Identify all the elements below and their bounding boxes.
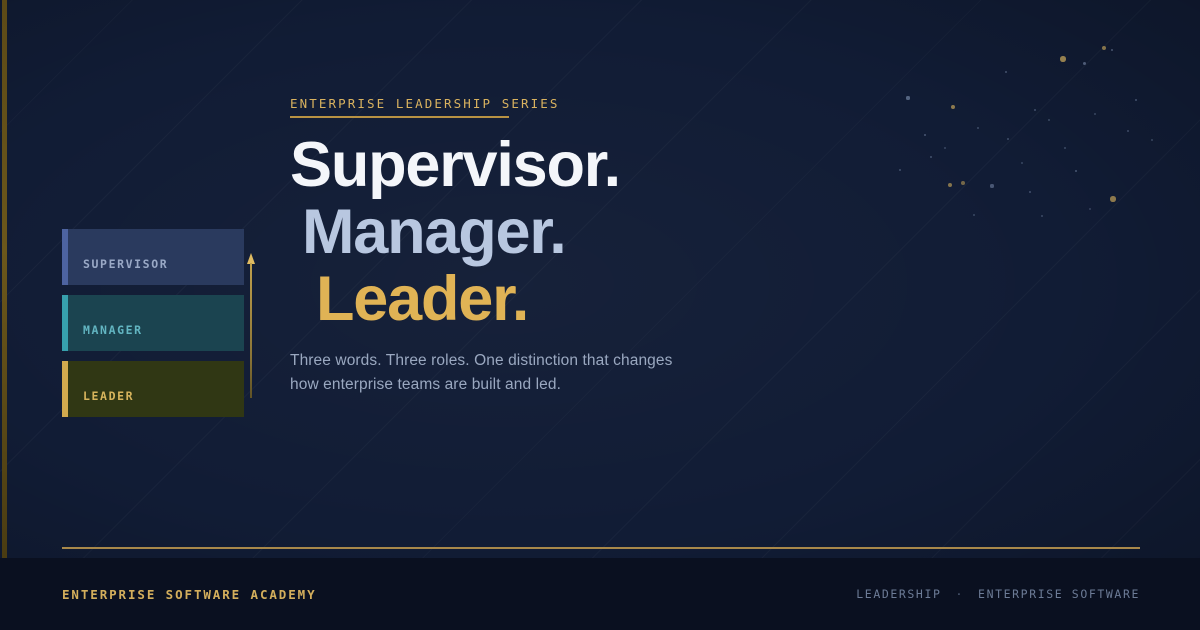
star-dot — [1089, 208, 1091, 210]
footer-tag-leadership: LEADERSHIP — [856, 587, 941, 601]
role-card-accent-bar — [62, 361, 68, 417]
left-accent-stripe — [2, 0, 7, 558]
star-dot — [948, 183, 952, 187]
subtitle-paragraph: Three words. Three roles. One distinctio… — [290, 349, 760, 397]
footer-separator-dot: · — [956, 587, 965, 601]
star-dot — [1005, 71, 1008, 74]
eyebrow-label: ENTERPRISE LEADERSHIP SERIES — [290, 96, 560, 111]
role-card-accent-bar — [62, 229, 68, 285]
star-dot — [973, 214, 976, 217]
star-dot — [1029, 191, 1032, 194]
star-dot — [1007, 138, 1010, 141]
star-dot — [906, 96, 909, 99]
eyebrow-underline — [290, 116, 509, 118]
star-dot — [1127, 130, 1130, 133]
arrow-up-icon — [247, 253, 255, 398]
star-dot — [944, 147, 946, 149]
footer-tag-enterprise-software: ENTERPRISE SOFTWARE — [978, 587, 1140, 601]
star-dot — [1111, 49, 1114, 52]
eyebrow: ENTERPRISE LEADERSHIP SERIES — [290, 96, 560, 118]
role-card-label: LEADER — [83, 389, 134, 403]
star-dot — [1021, 162, 1023, 164]
arrow-shaft — [250, 263, 252, 398]
footer-bar: ENTERPRISE SOFTWARE ACADEMY LEADERSHIP ·… — [0, 558, 1200, 630]
footer-divider — [62, 547, 1140, 549]
footer-brand-name: ENTERPRISE SOFTWARE ACADEMY — [62, 587, 317, 602]
star-dot — [1151, 139, 1153, 141]
role-card-supervisor[interactable]: SUPERVISOR — [62, 229, 244, 285]
star-dot — [1064, 147, 1066, 149]
role-card-leader[interactable]: LEADER — [62, 361, 244, 417]
star-dot — [1083, 62, 1086, 65]
star-dot — [977, 127, 980, 130]
star-dot — [1060, 56, 1065, 61]
star-dot — [951, 105, 956, 110]
star-dot — [1075, 170, 1078, 173]
star-dot — [1110, 196, 1115, 201]
star-dot — [924, 134, 927, 137]
star-dot — [990, 184, 993, 187]
role-card-list: SUPERVISOR MANAGER LEADER — [62, 229, 244, 427]
star-dot — [1135, 99, 1138, 102]
poster-canvas: ENTERPRISE LEADERSHIP SERIES Supervisor.… — [0, 0, 1200, 630]
headline-line-supervisor: Supervisor. — [290, 132, 620, 199]
headline-line-manager: Manager. — [302, 199, 620, 266]
star-dot — [1034, 109, 1037, 112]
star-dot — [1102, 46, 1106, 50]
headline-line-leader: Leader. — [316, 266, 620, 333]
role-card-manager[interactable]: MANAGER — [62, 295, 244, 351]
subtitle-line-2: how enterprise teams are built and led. — [290, 373, 760, 397]
star-dot — [899, 169, 902, 172]
footer-tags: LEADERSHIP · ENTERPRISE SOFTWARE — [856, 587, 1140, 601]
star-dot — [1048, 119, 1050, 121]
star-dot — [1094, 113, 1096, 115]
star-dot — [961, 181, 965, 185]
star-dot — [1041, 215, 1044, 218]
subtitle-line-1: Three words. Three roles. One distinctio… — [290, 349, 760, 373]
star-dot — [930, 156, 933, 159]
role-card-label: SUPERVISOR — [83, 257, 168, 271]
role-card-label: MANAGER — [83, 323, 143, 337]
role-card-accent-bar — [62, 295, 68, 351]
headline: Supervisor. Manager. Leader. — [290, 132, 620, 333]
